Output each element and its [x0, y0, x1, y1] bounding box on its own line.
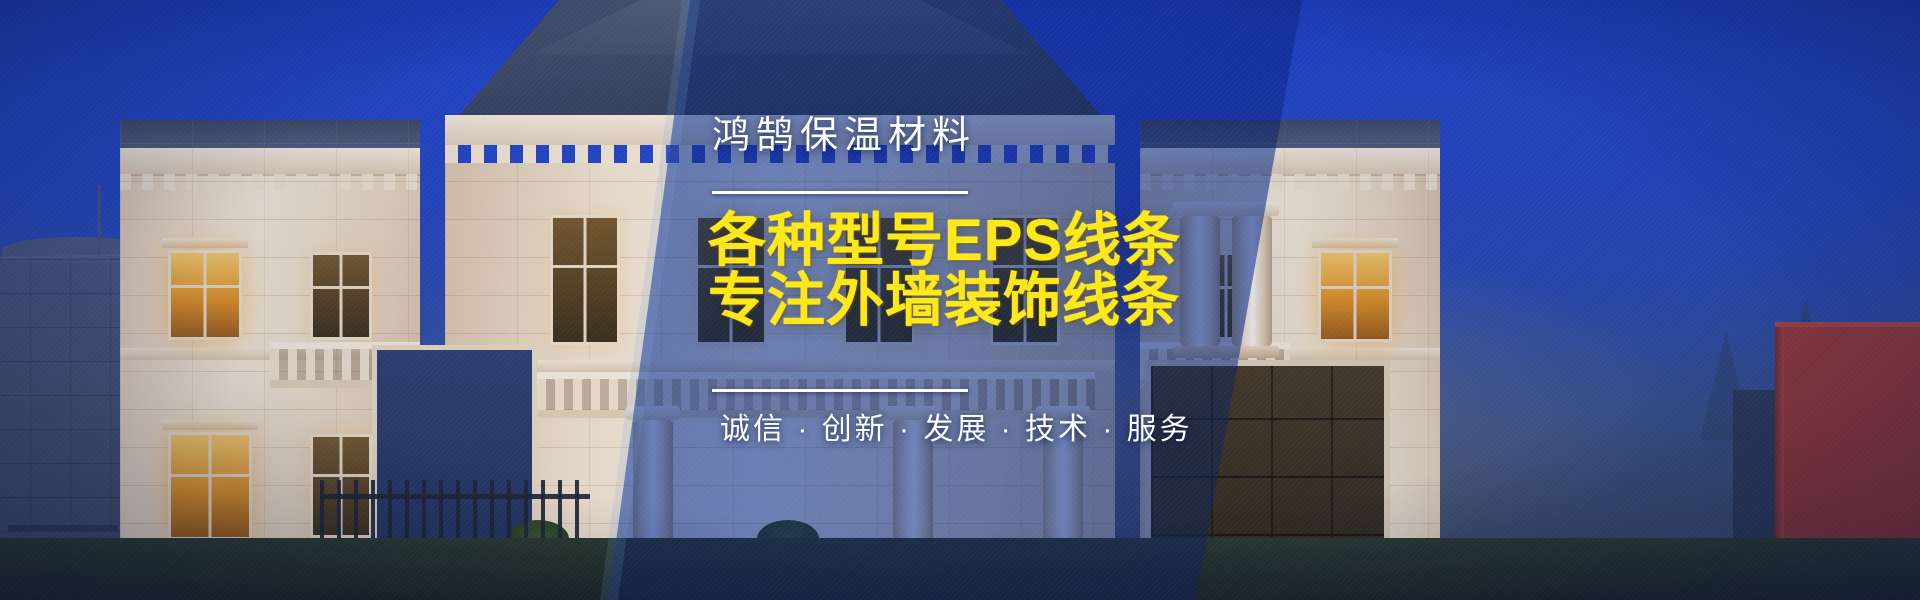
divider-bottom: [712, 389, 968, 392]
brand-name: 鸿鹄保温材料: [712, 104, 976, 159]
hero-banner: 鸿鹄保温材料 各种型号EPS线条 专注外墙装饰线条 诚信 · 创新 · 发展 ·…: [0, 0, 1920, 600]
headline-line-2: 专注外墙装饰线条: [708, 272, 1180, 330]
tagline: 诚信 · 创新 · 发展 · 技术 · 服务: [720, 404, 1193, 448]
banner-copy: 鸿鹄保温材料 各种型号EPS线条 专注外墙装饰线条 诚信 · 创新 · 发展 ·…: [712, 0, 1272, 600]
divider-top: [712, 191, 968, 194]
headline-line-1: 各种型号EPS线条: [708, 212, 1181, 270]
